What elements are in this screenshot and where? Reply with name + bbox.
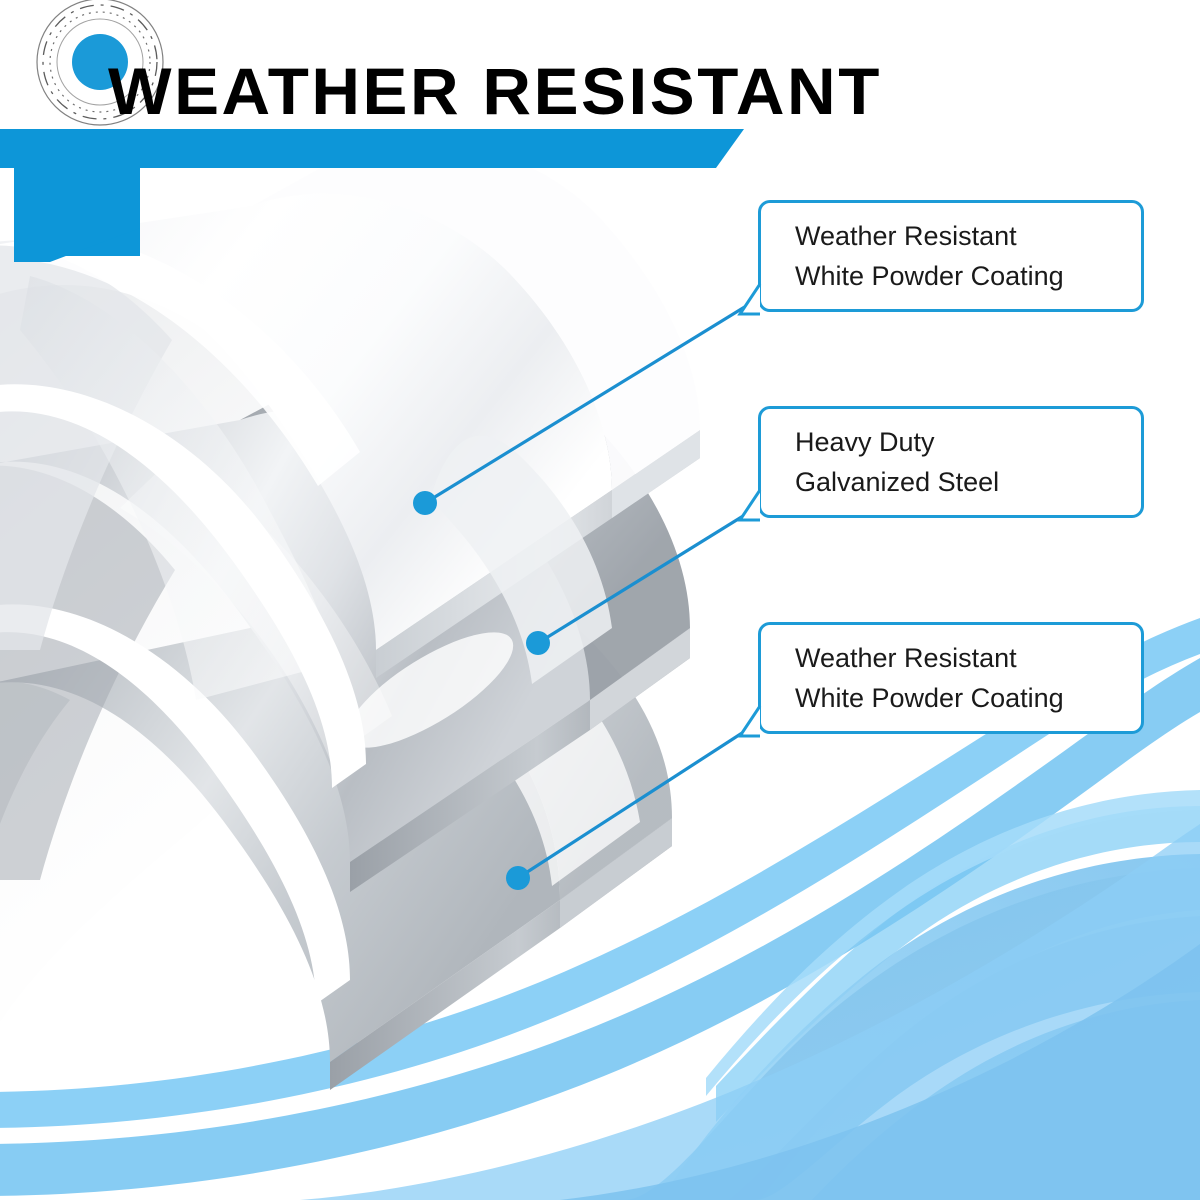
leader-line-2	[538, 508, 756, 643]
leader-line-1	[425, 300, 756, 503]
marker-dot-3	[506, 866, 530, 890]
infographic-canvas: WEATHER RESISTANT Weather Resistant Whit…	[0, 0, 1200, 1200]
marker-dot-2	[526, 631, 550, 655]
marker-dot-1	[413, 491, 437, 515]
leader-line-3	[518, 724, 756, 878]
callout-leader-lines	[0, 0, 1200, 1200]
